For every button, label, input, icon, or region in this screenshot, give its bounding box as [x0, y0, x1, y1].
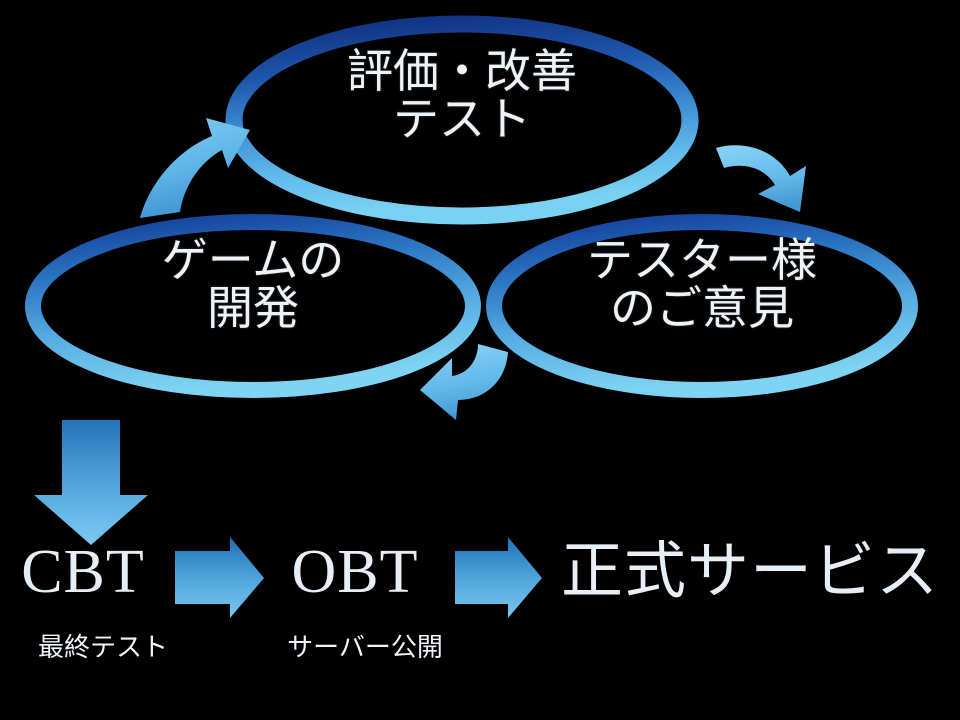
cycle-node-label-feedback-line1: テスター様	[487, 237, 917, 285]
cycle-arrow-eval-to-feedback	[716, 145, 806, 212]
release-step-label-official: 正式サービス	[548, 540, 952, 604]
release-step-label-obt: OBT	[280, 540, 430, 604]
cycle-node-label-feedback-line2: のご意見	[487, 285, 917, 333]
cycle-node-label-evaluation-line2: テスト	[232, 96, 692, 144]
release-step-label-cbt: CBT	[8, 540, 158, 604]
cycle-node-label-development: ゲームの 開発	[33, 237, 473, 333]
release-arrow-obt-to-official	[439, 537, 542, 618]
cycle-node-label-development-line1: ゲームの	[33, 237, 473, 285]
cycle-node-label-development-line2: 開発	[33, 285, 473, 333]
release-step-caption-cbt: 最終テスト	[8, 634, 198, 661]
cycle-node-label-evaluation: 評価・改善 テスト	[232, 48, 692, 144]
release-arrow-cbt-to-obt	[159, 537, 264, 618]
cycle-node-label-evaluation-line1: 評価・改善	[232, 48, 692, 96]
release-step-caption-obt: サーバー公開	[250, 634, 480, 661]
release-down-arrow	[34, 410, 148, 545]
cycle-node-label-feedback: テスター様 のご意見	[487, 237, 917, 333]
diagram-canvas: 評価・改善 テスト ゲームの 開発 テスター様 のご意見 CBT 最終テスト O…	[0, 0, 960, 720]
